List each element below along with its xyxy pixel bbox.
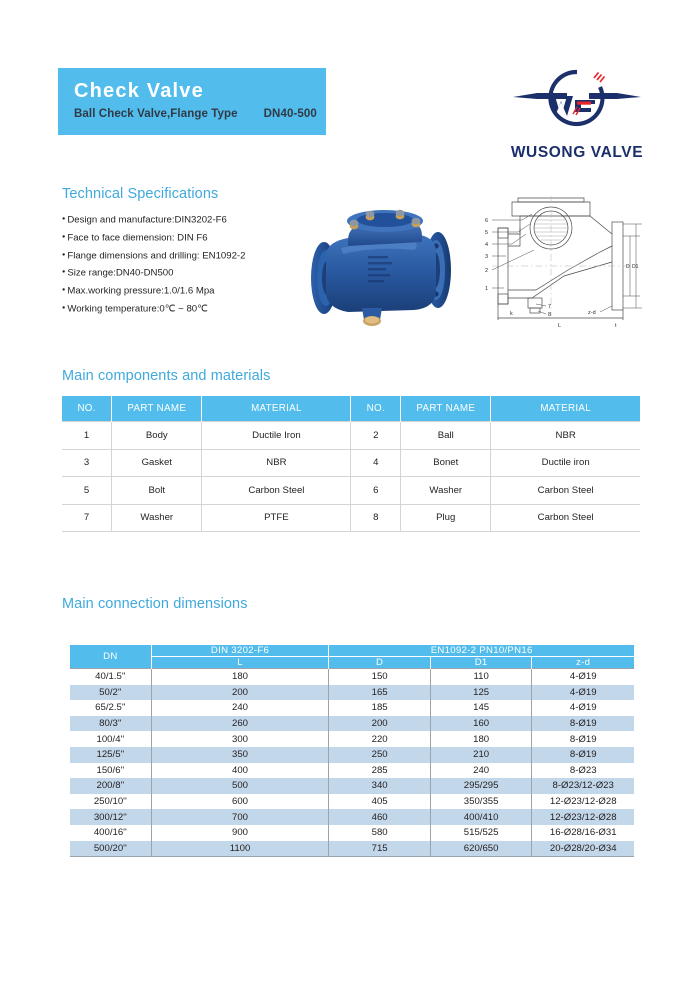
brand-name: WUSONG VALVE bbox=[497, 144, 657, 162]
brand-logo: WUSONG VALVE bbox=[497, 58, 657, 162]
cell-zd: 16-Ø28/16-Ø31 bbox=[532, 825, 634, 841]
cell-zd: 8-Ø19 bbox=[532, 747, 634, 763]
svg-text:D: D bbox=[626, 264, 630, 270]
table-row: 100/4'' 300 220 180 8-Ø19 bbox=[70, 731, 634, 747]
cell-material: NBR bbox=[491, 422, 640, 450]
table-row: 7 Washer PTFE 8 Plug Carbon Steel bbox=[62, 504, 640, 532]
cell-dn: 200/8'' bbox=[70, 778, 151, 794]
cell-material: NBR bbox=[202, 449, 351, 477]
cell-l: 240 bbox=[151, 700, 329, 716]
cell-part-name: Washer bbox=[401, 477, 491, 505]
cell-l: 600 bbox=[151, 794, 329, 810]
cell-part-name: Body bbox=[112, 422, 202, 450]
cell-d: 340 bbox=[329, 778, 431, 794]
cell-d: 405 bbox=[329, 794, 431, 810]
table-header-row: NO. PART NAME MATERIAL NO. PART NAME MAT… bbox=[62, 396, 640, 422]
cell-dn: 500/20'' bbox=[70, 841, 151, 857]
cell-material: Ductile Iron bbox=[202, 422, 351, 450]
cell-zd: 12-Ø23/12-Ø28 bbox=[532, 809, 634, 825]
cell-d: 285 bbox=[329, 763, 431, 779]
cell-d1: 350/355 bbox=[430, 794, 532, 810]
spec-item: Flange dimensions and drilling: EN1092-2 bbox=[62, 247, 312, 265]
cell-zd: 8-Ø19 bbox=[532, 716, 634, 732]
cell-zd: 4-Ø19 bbox=[532, 700, 634, 716]
cell-l: 350 bbox=[151, 747, 329, 763]
cell-material: Carbon Steel bbox=[491, 477, 640, 505]
svg-text:4: 4 bbox=[485, 242, 488, 248]
cell-d: 200 bbox=[329, 716, 431, 732]
cell-no: 1 bbox=[62, 422, 112, 450]
specifications-list: Design and manufacture:DIN3202-F6 Face t… bbox=[62, 211, 312, 318]
cell-dn: 250/10'' bbox=[70, 794, 151, 810]
column-header-part-name-1: PART NAME bbox=[112, 396, 202, 422]
table-row: 500/20'' 1100 715 620/650 20-Ø28/20-Ø34 bbox=[70, 841, 634, 857]
cell-l: 700 bbox=[151, 809, 329, 825]
cell-zd: 4-Ø19 bbox=[532, 669, 634, 685]
svg-text:8: 8 bbox=[548, 312, 551, 318]
cell-zd: 12-Ø23/12-Ø28 bbox=[532, 794, 634, 810]
table-row: 150/6'' 400 285 240 8-Ø23 bbox=[70, 763, 634, 779]
cell-material: Ductile iron bbox=[491, 449, 640, 477]
section-heading-materials: Main components and materials bbox=[62, 368, 270, 384]
cell-dn: 80/3'' bbox=[70, 716, 151, 732]
svg-text:5: 5 bbox=[485, 230, 488, 236]
svg-text:1: 1 bbox=[485, 286, 488, 292]
cell-d1: 145 bbox=[430, 700, 532, 716]
column-group-header-din: DIN 3202-F6 bbox=[151, 645, 329, 657]
column-header-dn: DN bbox=[70, 645, 151, 669]
table-header-row-group: DN DIN 3202-F6 EN1092-2 PN10/PN16 bbox=[70, 645, 634, 657]
cell-no: 7 bbox=[62, 504, 112, 532]
column-header-d: D bbox=[329, 657, 431, 669]
cell-zd: 8-Ø23/12-Ø23 bbox=[532, 778, 634, 794]
column-header-no-2: NO. bbox=[351, 396, 401, 422]
cell-dn: 50/2'' bbox=[70, 685, 151, 701]
cell-d: 220 bbox=[329, 731, 431, 747]
column-header-zd: z-d bbox=[532, 657, 634, 669]
cell-material: Carbon Steel bbox=[491, 504, 640, 532]
cell-l: 260 bbox=[151, 716, 329, 732]
cell-no: 8 bbox=[351, 504, 401, 532]
cell-part-name: Gasket bbox=[112, 449, 202, 477]
section-heading-dimensions: Main connection dimensions bbox=[62, 596, 248, 612]
cell-l: 900 bbox=[151, 825, 329, 841]
dn-range-label: DN40-500 bbox=[264, 108, 317, 120]
cell-d: 165 bbox=[329, 685, 431, 701]
column-header-l: L bbox=[151, 657, 329, 669]
column-header-material-1: MATERIAL bbox=[202, 396, 351, 422]
svg-text:3: 3 bbox=[485, 254, 488, 260]
table-row: 1 Body Ductile Iron 2 Ball NBR bbox=[62, 422, 640, 450]
cell-d1: 110 bbox=[430, 669, 532, 685]
title-banner: Check Valve Ball Check Valve,Flange Type… bbox=[58, 68, 326, 135]
cell-l: 180 bbox=[151, 669, 329, 685]
cell-part-name: Ball bbox=[401, 422, 491, 450]
cell-no: 5 bbox=[62, 477, 112, 505]
cell-d1: 515/525 bbox=[430, 825, 532, 841]
page-title: Check Valve bbox=[74, 79, 326, 103]
wusong-logo-icon bbox=[497, 58, 657, 138]
cell-part-name: Bonet bbox=[401, 449, 491, 477]
column-header-d1: D1 bbox=[430, 657, 532, 669]
cell-d1: 210 bbox=[430, 747, 532, 763]
table-row: 40/1.5'' 180 150 110 4-Ø19 bbox=[70, 669, 634, 685]
table-row: 200/8'' 500 340 295/295 8-Ø23/12-Ø23 bbox=[70, 778, 634, 794]
svg-text:k: k bbox=[510, 311, 513, 317]
spec-item: Working temperature:0℃ ~ 80℃ bbox=[62, 300, 312, 318]
cell-l: 1100 bbox=[151, 841, 329, 857]
cell-part-name: Bolt bbox=[112, 477, 202, 505]
cell-l: 300 bbox=[151, 731, 329, 747]
svg-text:z-d: z-d bbox=[588, 310, 596, 316]
cell-material: Carbon Steel bbox=[202, 477, 351, 505]
table-row: 400/16'' 900 580 515/525 16-Ø28/16-Ø31 bbox=[70, 825, 634, 841]
table-row: 80/3'' 260 200 160 8-Ø19 bbox=[70, 716, 634, 732]
cell-d: 460 bbox=[329, 809, 431, 825]
cell-no: 3 bbox=[62, 449, 112, 477]
column-header-part-name-2: PART NAME bbox=[401, 396, 491, 422]
cell-dn: 300/12'' bbox=[70, 809, 151, 825]
cell-material: PTFE bbox=[202, 504, 351, 532]
cell-d: 150 bbox=[329, 669, 431, 685]
cell-d: 580 bbox=[329, 825, 431, 841]
dimensions-table: DN DIN 3202-F6 EN1092-2 PN10/PN16 L D D1… bbox=[70, 645, 634, 857]
cell-dn: 400/16'' bbox=[70, 825, 151, 841]
cell-dn: 125/5'' bbox=[70, 747, 151, 763]
cell-d1: 180 bbox=[430, 731, 532, 747]
table-row: 50/2'' 200 165 125 4-Ø19 bbox=[70, 685, 634, 701]
cell-dn: 65/2.5'' bbox=[70, 700, 151, 716]
svg-text:6: 6 bbox=[485, 218, 488, 224]
table-row: 5 Bolt Carbon Steel 6 Washer Carbon Stee… bbox=[62, 477, 640, 505]
cell-d1: 160 bbox=[430, 716, 532, 732]
page-subtitle: Ball Check Valve,Flange TypeDN40-500 bbox=[74, 107, 326, 122]
cell-d1: 125 bbox=[430, 685, 532, 701]
cell-no: 6 bbox=[351, 477, 401, 505]
table-row: 300/12'' 700 460 400/410 12-Ø23/12-Ø28 bbox=[70, 809, 634, 825]
cell-no: 2 bbox=[351, 422, 401, 450]
spec-item: Design and manufacture:DIN3202-F6 bbox=[62, 211, 312, 229]
cell-d1: 295/295 bbox=[430, 778, 532, 794]
cell-dn: 40/1.5'' bbox=[70, 669, 151, 685]
table-row: 125/5'' 350 250 210 8-Ø19 bbox=[70, 747, 634, 763]
spec-item: Face to face diemension: DIN F6 bbox=[62, 229, 312, 247]
cell-dn: 100/4'' bbox=[70, 731, 151, 747]
cell-l: 400 bbox=[151, 763, 329, 779]
cell-l: 500 bbox=[151, 778, 329, 794]
svg-text:L: L bbox=[558, 323, 561, 329]
column-group-header-en1092: EN1092-2 PN10/PN16 bbox=[329, 645, 634, 657]
table-row: 3 Gasket NBR 4 Bonet Ductile iron bbox=[62, 449, 640, 477]
spec-item: Size range:DN40-DN500 bbox=[62, 264, 312, 282]
cell-part-name: Plug bbox=[401, 504, 491, 532]
cell-dn: 150/6'' bbox=[70, 763, 151, 779]
cell-zd: 4-Ø19 bbox=[532, 685, 634, 701]
section-heading-specifications: Technical Specifications bbox=[62, 186, 218, 202]
cell-part-name: Washer bbox=[112, 504, 202, 532]
svg-text:7: 7 bbox=[548, 304, 551, 310]
technical-drawing-cross-section: 6 5 4 3 2 1 7 8 z-d L t k D D1 bbox=[472, 194, 648, 332]
table-row: 250/10'' 600 405 350/355 12-Ø23/12-Ø28 bbox=[70, 794, 634, 810]
cell-zd: 20-Ø28/20-Ø34 bbox=[532, 841, 634, 857]
svg-text:D1: D1 bbox=[632, 264, 639, 270]
cell-zd: 8-Ø23 bbox=[532, 763, 634, 779]
cell-zd: 8-Ø19 bbox=[532, 731, 634, 747]
column-header-no-1: NO. bbox=[62, 396, 112, 422]
cell-d: 250 bbox=[329, 747, 431, 763]
svg-text:2: 2 bbox=[485, 268, 488, 274]
cell-d: 185 bbox=[329, 700, 431, 716]
column-header-material-2: MATERIAL bbox=[491, 396, 640, 422]
cell-d: 715 bbox=[329, 841, 431, 857]
cell-d1: 620/650 bbox=[430, 841, 532, 857]
cell-no: 4 bbox=[351, 449, 401, 477]
table-header-row-sub: L D D1 z-d bbox=[70, 657, 634, 669]
product-photo-ball-check-valve bbox=[286, 190, 464, 332]
subtitle-text: Ball Check Valve,Flange Type bbox=[74, 108, 238, 120]
cell-d1: 240 bbox=[430, 763, 532, 779]
cell-l: 200 bbox=[151, 685, 329, 701]
spec-item: Max.working pressure:1.0/1.6 Mpa bbox=[62, 282, 312, 300]
materials-table: NO. PART NAME MATERIAL NO. PART NAME MAT… bbox=[62, 396, 640, 532]
table-row: 65/2.5'' 240 185 145 4-Ø19 bbox=[70, 700, 634, 716]
cell-d1: 400/410 bbox=[430, 809, 532, 825]
